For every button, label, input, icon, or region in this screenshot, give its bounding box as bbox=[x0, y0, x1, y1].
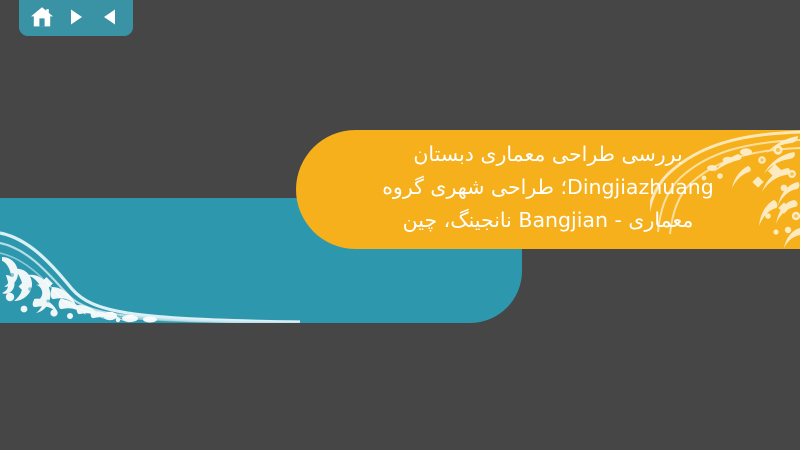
triangle-right-icon bbox=[66, 7, 86, 27]
title-line-1: بررسی طراحی معماری دبستان bbox=[314, 138, 782, 171]
triangle-left-icon bbox=[100, 7, 120, 27]
title-line-2: Dingjiazhuang؛ طراحی شهری گروه bbox=[314, 171, 782, 204]
panel-arabesque-ornament bbox=[0, 213, 300, 323]
previous-button[interactable] bbox=[96, 3, 124, 31]
title-line-3: معماری - Bangjian نانجینگ، چین bbox=[314, 204, 782, 237]
slide-stage: بررسی طراحی معماری دبستان Dingjiazhuang؛… bbox=[0, 0, 800, 450]
home-icon bbox=[30, 6, 54, 28]
title-banner: بررسی طراحی معماری دبستان Dingjiazhuang؛… bbox=[296, 130, 800, 249]
navigation-bar bbox=[19, 0, 133, 36]
next-button[interactable] bbox=[62, 3, 90, 31]
home-button[interactable] bbox=[28, 3, 56, 31]
slide-title: بررسی طراحی معماری دبستان Dingjiazhuang؛… bbox=[314, 138, 782, 237]
